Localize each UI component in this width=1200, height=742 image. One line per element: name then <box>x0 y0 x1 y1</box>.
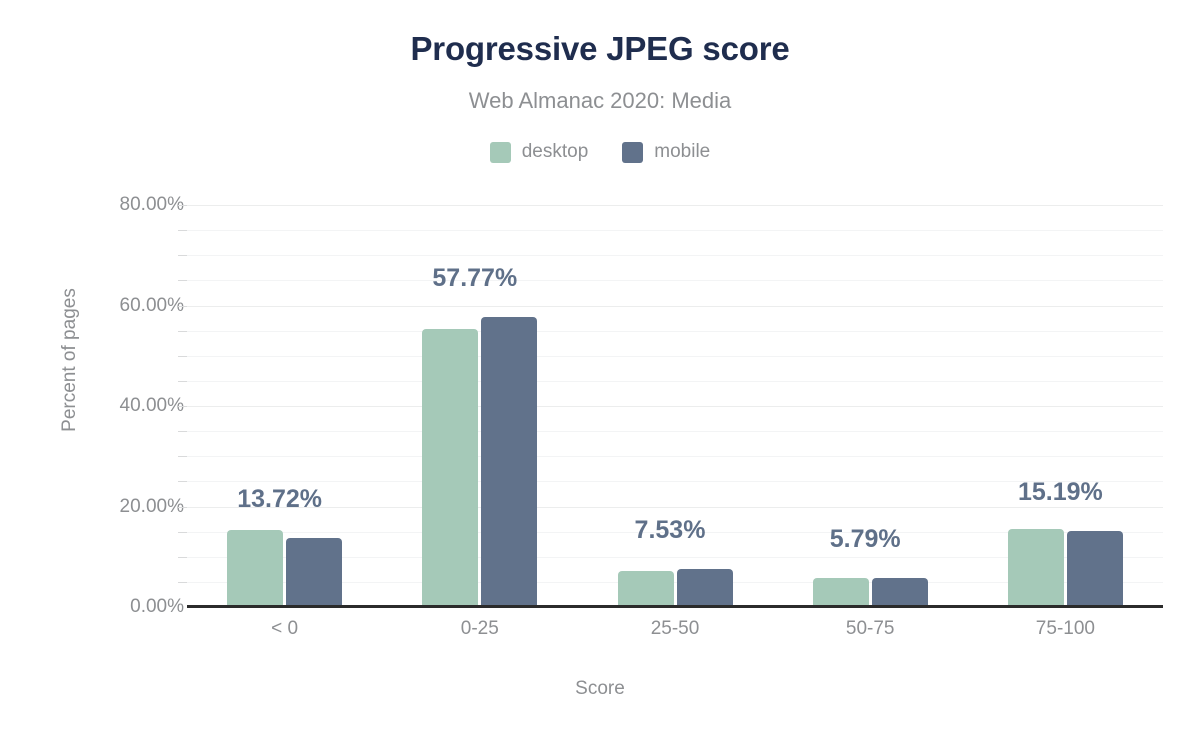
data-label-3: 5.79% <box>830 525 901 554</box>
gridline <box>187 205 1163 206</box>
y-axis-tick-mark <box>178 280 187 281</box>
gridline <box>187 230 1163 231</box>
gridline <box>187 381 1163 382</box>
bar-desktop-2[interactable] <box>618 571 674 607</box>
gridline <box>187 456 1163 457</box>
y-axis-tick-mark <box>178 381 187 382</box>
y-axis-tick-label: 0.00% <box>24 596 184 618</box>
y-axis-tick-label: 60.00% <box>24 295 184 317</box>
bar-mobile-2[interactable] <box>677 569 733 607</box>
y-axis-tick-label: 40.00% <box>24 395 184 417</box>
chart-title: Progressive JPEG score <box>0 30 1200 68</box>
legend-item-desktop[interactable]: desktop <box>490 141 589 163</box>
y-axis-tick-mark <box>178 331 187 332</box>
x-axis-tick-label: < 0 <box>271 618 298 640</box>
y-axis-tick-label: 80.00% <box>24 194 184 216</box>
bar-desktop-4[interactable] <box>1008 529 1064 607</box>
gridline <box>187 431 1163 432</box>
plot-area <box>187 205 1163 607</box>
y-axis-tick-mark <box>178 507 187 508</box>
gridline <box>187 507 1163 508</box>
bar-mobile-4[interactable] <box>1067 531 1123 607</box>
gridline <box>187 406 1163 407</box>
y-axis-tick-mark <box>178 230 187 231</box>
y-axis-tick-mark <box>178 557 187 558</box>
legend-swatch-mobile <box>622 142 643 163</box>
y-axis-title: Percent of pages <box>59 250 81 470</box>
legend-item-mobile[interactable]: mobile <box>622 141 710 163</box>
chart-subtitle: Web Almanac 2020: Media <box>0 88 1200 114</box>
x-axis-tick-label: 25-50 <box>651 618 700 640</box>
legend-label-mobile: mobile <box>654 141 710 163</box>
data-label-4: 15.19% <box>1018 478 1103 507</box>
bar-desktop-1[interactable] <box>422 329 478 607</box>
x-axis-tick-label: 0-25 <box>461 618 499 640</box>
y-axis-tick-mark <box>178 532 187 533</box>
bar-mobile-0[interactable] <box>286 538 342 607</box>
legend-swatch-desktop <box>490 142 511 163</box>
y-axis-tick-mark <box>178 406 187 407</box>
bar-desktop-0[interactable] <box>227 530 283 607</box>
gridline <box>187 331 1163 332</box>
data-label-0: 13.72% <box>237 485 322 514</box>
data-label-1: 57.77% <box>432 264 517 293</box>
y-axis-tick-mark <box>178 456 187 457</box>
chart-container: Progressive JPEG score Web Almanac 2020:… <box>0 0 1200 742</box>
y-axis-tick-mark <box>178 431 187 432</box>
y-axis-tick-mark <box>178 205 187 206</box>
y-axis-tick-mark <box>178 481 187 482</box>
data-label-2: 7.53% <box>635 516 706 545</box>
bar-desktop-3[interactable] <box>813 578 869 607</box>
x-axis-title: Score <box>0 678 1200 700</box>
y-axis-tick-mark <box>178 356 187 357</box>
gridline <box>187 356 1163 357</box>
x-axis-tick-label: 50-75 <box>846 618 895 640</box>
x-axis-tick-label: 75-100 <box>1036 618 1095 640</box>
x-axis-line <box>187 605 1163 608</box>
gridline <box>187 255 1163 256</box>
y-axis-tick-label: 20.00% <box>24 496 184 518</box>
y-axis-tick-mark <box>178 582 187 583</box>
y-axis-tick-mark <box>178 306 187 307</box>
legend-label-desktop: desktop <box>522 141 589 163</box>
gridline <box>187 280 1163 281</box>
bar-mobile-3[interactable] <box>872 578 928 607</box>
chart-legend: desktop mobile <box>0 141 1200 163</box>
y-axis-tick-mark <box>178 255 187 256</box>
bar-mobile-1[interactable] <box>481 317 537 607</box>
gridline <box>187 306 1163 307</box>
gridline <box>187 481 1163 482</box>
